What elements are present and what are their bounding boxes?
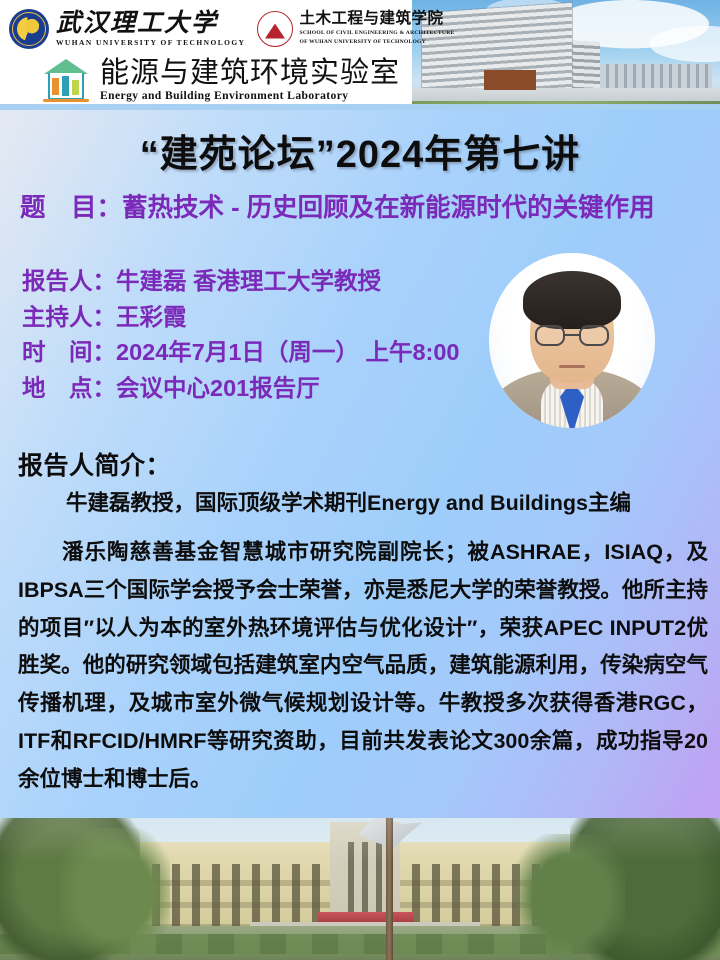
page-title: “建苑论坛”2024年第七讲: [0, 134, 720, 177]
house-bar-green: [72, 80, 79, 95]
lab-names: 能源与建筑环境实验室 Energy and Building Environme…: [100, 58, 400, 102]
footer-building-photo: [0, 818, 720, 960]
seminar-poster: 武汉理工大学 WUHAN UNIVERSITY OF TECHNOLOGY 土木…: [0, 0, 720, 960]
house-bar-teal: [62, 76, 69, 96]
poster-header: 武汉理工大学 WUHAN UNIVERSITY OF TECHNOLOGY 土木…: [0, 0, 720, 110]
speaker-label: 报告人：: [22, 268, 116, 294]
portrait-brow-left: [536, 317, 562, 320]
footer-flagpole: [386, 818, 393, 960]
speaker-value: 牛建磊 香港理工大学教授: [116, 268, 381, 294]
bio-label: 报告人简介：: [18, 446, 171, 482]
university-name-cn: 武汉理工大学: [56, 11, 245, 37]
lab-name-cn: 能源与建筑环境实验室: [100, 58, 400, 88]
footer-tree-right-2: [515, 834, 625, 960]
university-names: 武汉理工大学 WUHAN UNIVERSITY OF TECHNOLOGY: [56, 11, 245, 48]
lab-name-en: Energy and Building Environment Laborato…: [100, 89, 400, 102]
footer-tree-left-2: [60, 828, 170, 958]
header-logo-row-bottom: 能源与建筑环境实验室 Energy and Building Environme…: [0, 54, 412, 106]
portrait-glasses: [535, 325, 609, 347]
header-logo-row-top: 武汉理工大学 WUHAN UNIVERSITY OF TECHNOLOGY 土木…: [0, 5, 412, 53]
house-roof-shape: [44, 59, 88, 74]
building-entrance: [484, 70, 536, 90]
university-name-en: WUHAN UNIVERSITY OF TECHNOLOGY: [56, 38, 245, 47]
school-seal-icon: [257, 11, 293, 47]
school-name-en-line1: SCHOOL OF CIVIL ENGINEERING & ARCHITECTU…: [299, 30, 454, 38]
school-name-en-line2: OF WUHAN UNIVERSITY OF TECHNOLOGY: [299, 39, 454, 47]
time-label: 时 间：: [22, 339, 116, 365]
school-names: 土木工程与建筑学院 SCHOOL OF CIVIL ENGINEERING & …: [299, 11, 454, 46]
host-row: 主持人：王彩霞: [22, 300, 492, 336]
house-base-shape: [43, 99, 89, 102]
portrait-hair: [523, 271, 621, 329]
place-row: 地 点：会议中心201报告厅: [22, 371, 492, 407]
host-label: 主持人：: [22, 304, 116, 330]
place-value: 会议中心201报告厅: [116, 375, 320, 401]
time-row: 时 间：2024年7月1日（周一） 上午8:00: [22, 335, 492, 371]
event-info-block: 报告人：牛建磊 香港理工大学教授 主持人：王彩霞 时 间：2024年7月1日（周…: [22, 264, 492, 407]
place-label: 地 点：: [22, 375, 116, 401]
bio-headline: 牛建磊教授，国际顶级学术期刊Energy and Buildings主编: [18, 489, 706, 518]
house-bar-orange: [52, 78, 59, 95]
bio-paragraph: 潘乐陶慈善基金智慧城市研究院副院长；被ASHRAE，ISIAQ，及IBPSA三个…: [18, 534, 708, 799]
host-value: 王彩霞: [116, 304, 187, 330]
portrait-mouth: [559, 365, 585, 368]
subject-line: 题 目：蓄热技术 - 历史回顾及在新能源时代的关键作用: [20, 193, 720, 224]
lab-house-icon: [42, 58, 90, 102]
wut-seal-icon: [9, 9, 49, 49]
portrait-brow-right: [582, 317, 608, 320]
subject-label: 题 目：: [20, 194, 122, 222]
header-logo-panel: 武汉理工大学 WUHAN UNIVERSITY OF TECHNOLOGY 土木…: [0, 0, 412, 110]
time-value: 2024年7月1日（周一） 上午8:00: [116, 339, 459, 365]
header-bottom-strip: [0, 104, 720, 110]
speaker-row: 报告人：牛建磊 香港理工大学教授: [22, 264, 492, 300]
speaker-portrait: [489, 253, 655, 428]
subject-value: 蓄热技术 - 历史回顾及在新能源时代的关键作用: [122, 194, 655, 222]
school-name-cn: 土木工程与建筑学院: [299, 11, 454, 27]
